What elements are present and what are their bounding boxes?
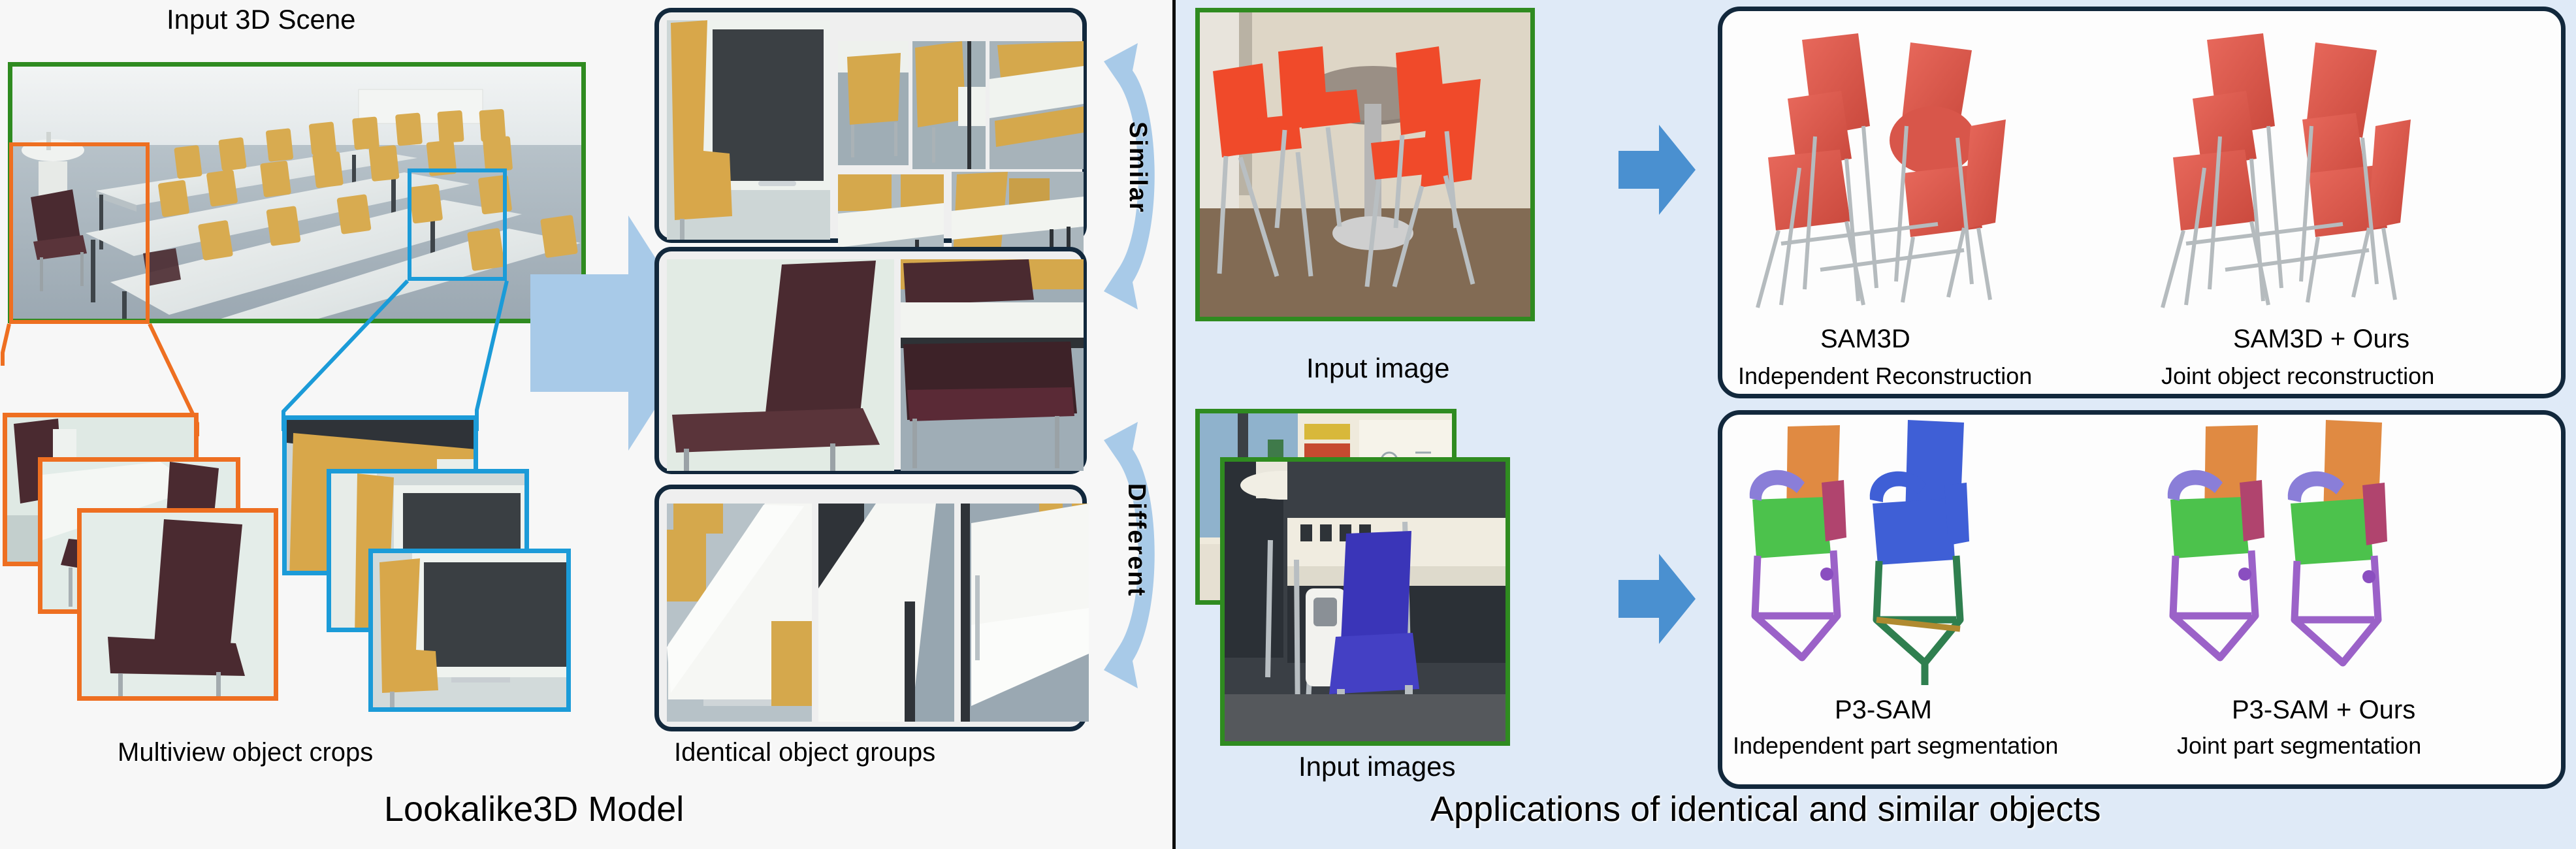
group-tile [961,504,1089,722]
group-tile-content [667,504,812,722]
segmentation-result-card: P3-SAM Independent part segmentation P3-… [1718,410,2566,789]
group-tile-content [901,259,1084,471]
identical-group-card-1 [654,8,1087,243]
panel-divider [1172,0,1176,849]
group-tile-content [961,504,1089,722]
input-3d-scene-label: Input 3D Scene [167,4,356,35]
group-tile [818,504,954,722]
blue-chair-photo [1225,462,1510,746]
crop-blue-3 [368,549,571,712]
group-tile [901,259,1084,471]
group-tile [667,259,894,471]
multiview-crops-label: Multiview object crops [118,738,373,767]
sam3d-ours-caption: Joint object reconstruction [2161,362,2434,390]
p3sam-ours-method-label: P3-SAM + Ours [2232,696,2415,725]
input-image-red-chairs [1195,8,1535,321]
segmentation-renders [1742,420,2545,694]
group-tile [990,41,1084,169]
input-image-label: Input image [1306,353,1449,384]
group-tile-content [667,20,830,240]
scene-roi-blue [408,168,507,281]
crop-orange-3 [77,508,278,701]
sam3d-caption: Independent Reconstruction [1738,362,2032,390]
crop-blue-3-content [373,553,571,712]
applications-title: Applications of identical and similar ob… [1430,789,2101,829]
p3sam-caption: Independent part segmentation [1733,732,2058,760]
similar-label: Similar [1123,121,1151,214]
reconstruction-flow-arrow [1618,121,1697,219]
different-label: Different [1122,483,1150,597]
group-3-tiles [667,497,1074,719]
figure-root: Input 3D Scene [0,0,2576,849]
sam3d-method-label: SAM3D [1820,325,1910,354]
group-tile [667,504,812,722]
sam3d-ours-method-label: SAM3D + Ours [2233,325,2409,354]
group-tile [838,41,909,165]
group-tile [667,20,830,240]
red-chairs-photo [1200,12,1535,321]
group-tile-content [818,504,954,722]
segmentation-flow-arrow [1618,550,1697,648]
group-2-tiles [667,259,1074,462]
crop-orange-3-content [82,513,278,701]
identical-groups-label: Identical object groups [674,738,935,767]
reconstruction-renders [1742,28,2545,309]
scene-roi-orange [9,142,150,324]
group-tile-content [838,41,909,165]
identical-group-card-3 [654,485,1087,731]
p3sam-ours-caption: Joint part segmentation [2177,732,2421,760]
group-tile-content [912,41,986,169]
input-image-blue-chair [1220,457,1510,746]
identical-group-card-2 [654,247,1087,474]
group-tile-content [990,41,1084,169]
group-tile [912,41,986,169]
p3sam-method-label: P3-SAM [1835,696,1932,725]
group-1-tiles [667,20,1074,231]
group-tile-content [667,259,894,471]
lookalike3d-model-title: Lookalike3D Model [384,789,684,829]
input-images-label: Input images [1298,751,1455,782]
reconstruction-result-card: SAM3D Independent Reconstruction SAM3D +… [1718,7,2566,398]
